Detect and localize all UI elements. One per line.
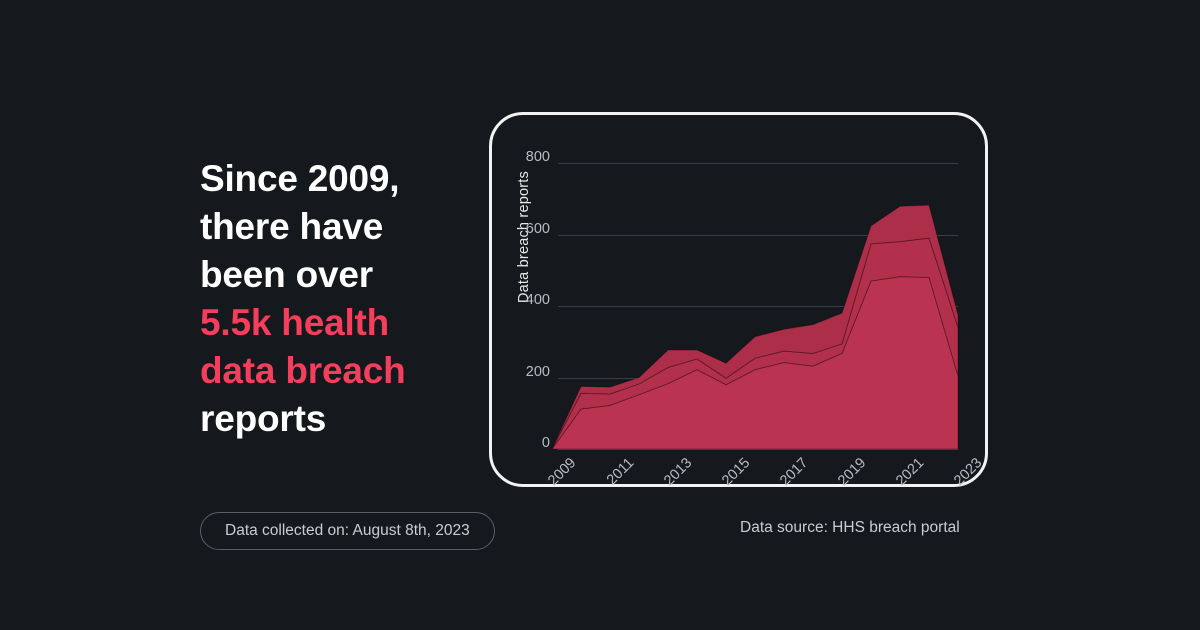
x-axis-ticks: 20092011201320152017201920212023 (552, 455, 958, 515)
area-series-group (552, 163, 958, 449)
headline-line-5-accent: data breach (200, 347, 470, 395)
headline-line-2: there have (200, 203, 470, 251)
plot-area: 0200400600800 (552, 163, 958, 449)
y-axis-tick-label: 800 (526, 150, 550, 165)
data-collected-badge: Data collected on: August 8th, 2023 (200, 512, 495, 550)
y-axis-tick-label: 400 (526, 293, 550, 308)
y-axis-title: Data breach reports (516, 171, 532, 303)
y-axis-tick-label: 0 (542, 436, 550, 451)
x-axis-tick-label: 2011 (604, 455, 637, 488)
chart: Data breach reports 0200400600800 200920… (492, 115, 985, 484)
x-axis-tick-label: 2023 (951, 455, 985, 489)
x-axis-line (558, 449, 958, 450)
headline-line-4-accent: 5.5k health (200, 299, 470, 347)
headline-line-3: been over (200, 251, 470, 299)
x-axis-tick-label: 2009 (545, 455, 579, 489)
headline-line-6: reports (200, 395, 470, 443)
chart-card: Data breach reports 0200400600800 200920… (489, 112, 988, 487)
page-title: Since 2009, there have been over 5.5k he… (200, 155, 470, 443)
headline-line-1: Since 2009, (200, 155, 470, 203)
data-source-label: Data source: HHS breach portal (740, 520, 960, 536)
y-axis-tick-label: 200 (526, 365, 550, 380)
x-axis-tick-label: 2017 (777, 455, 811, 489)
x-axis-tick-label: 2019 (835, 455, 869, 489)
y-axis-tick-label: 600 (526, 222, 550, 237)
x-axis-tick-label: 2015 (719, 455, 753, 489)
poster-canvas: Since 2009, there have been over 5.5k he… (0, 0, 1200, 630)
x-axis-tick-label: 2021 (893, 455, 927, 489)
x-axis-tick-label: 2013 (661, 455, 695, 489)
